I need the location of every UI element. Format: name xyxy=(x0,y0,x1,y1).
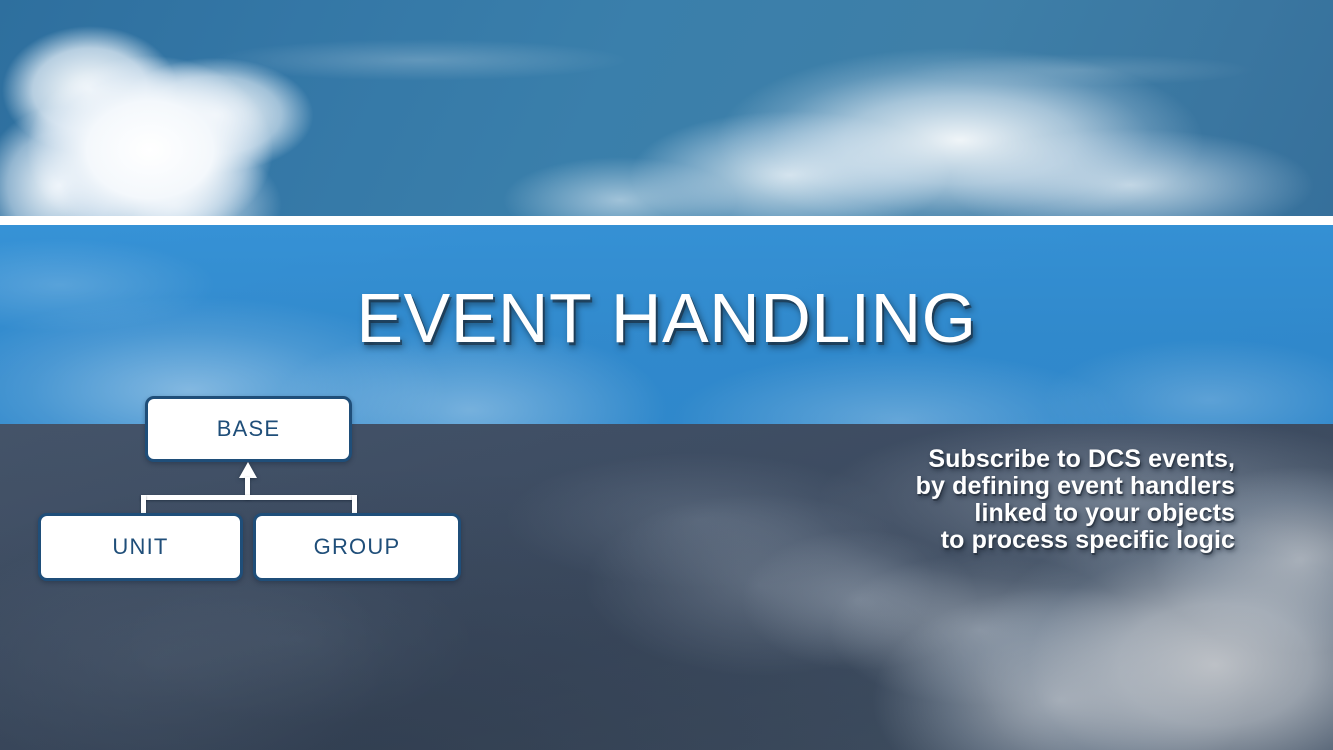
description-text-block: Subscribe to DCS events, by defining eve… xyxy=(916,446,1235,554)
white-divider-bar xyxy=(0,216,1333,225)
description-line-3: linked to your objects xyxy=(916,500,1235,527)
description-line-4: to process specific logic xyxy=(916,527,1235,554)
slide-root: EVENT HANDLING BASE UNIT GROUP Subscribe… xyxy=(0,0,1333,750)
diagram-node-base[interactable]: BASE xyxy=(145,396,352,462)
diagram-node-base-label: BASE xyxy=(217,416,281,442)
diagram-node-unit-label: UNIT xyxy=(112,534,168,560)
diagram-node-unit[interactable]: UNIT xyxy=(38,513,243,581)
blue-sky-cloud-top-image xyxy=(0,0,1333,216)
description-line-1: Subscribe to DCS events, xyxy=(916,446,1235,473)
page-title: EVENT HANDLING xyxy=(0,283,1333,353)
diagram-node-group[interactable]: GROUP xyxy=(253,513,461,581)
description-line-2: by defining event handlers xyxy=(916,473,1235,500)
diagram-node-group-label: GROUP xyxy=(314,534,401,560)
